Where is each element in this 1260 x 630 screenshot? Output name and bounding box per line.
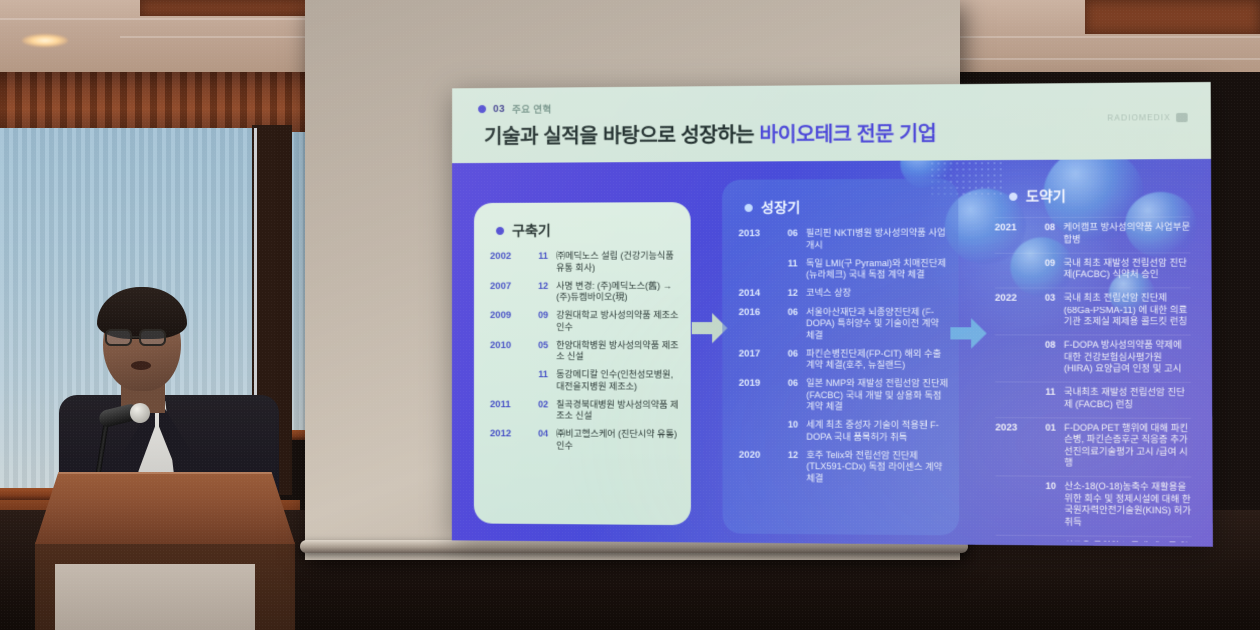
entry-text: 국내 최초 전립선암 진단제 (68Ga-PSMA-11) 에 대한 의료기관 … bbox=[1064, 292, 1191, 327]
slide-title: 기술과 실적을 바탕으로 성장하는 바이오테크 전문 기업 bbox=[484, 117, 936, 149]
bullet-dot-icon bbox=[496, 227, 504, 235]
entry-year: 2021 bbox=[995, 222, 1037, 246]
timeline-entry: 2002 11 ㈜메딕노스 설립 (건강기능식품 유통 회사) bbox=[490, 250, 681, 273]
entry-text: 한양대학병원 방사성의약품 제조소 신설 bbox=[556, 340, 680, 363]
entry-text: 사명 변경: (주)메딕노스(舊) → (주)듀켐바이오(現) bbox=[556, 280, 680, 303]
podium-paper bbox=[55, 564, 255, 630]
entry-month: 11 bbox=[1037, 387, 1064, 411]
entry-text: 칠곡경북대병원 방사성의약품 제조소 신설 bbox=[556, 399, 680, 423]
entry-year: 2020 bbox=[739, 449, 780, 484]
entry-year: 2019 bbox=[739, 378, 780, 413]
entry-month: 06 bbox=[780, 378, 807, 413]
phase-3-entries: 2021 08 케어캠프 방사성의약품 사업부문 합병 09 국내 최초 재발성… bbox=[995, 216, 1192, 542]
entry-text: 동강메디칼 인수(인천성모병원, 대전을지병원 제조소) bbox=[556, 369, 680, 393]
slide-title-accent: 바이오테크 전문 기업 bbox=[759, 123, 936, 146]
entry-month: 09 bbox=[1036, 257, 1063, 281]
entry-year: 2017 bbox=[739, 348, 780, 371]
timeline-entry: 10 세계 최초 중성자 기술이 적용된 F-DOPA 국내 품목허가 취득 bbox=[739, 420, 949, 444]
entry-month: 08 bbox=[1037, 340, 1064, 375]
entry-text: 강원대학교 방사성의약품 제조소 인수 bbox=[556, 310, 680, 333]
entry-text: 파킨슨병진단제(FP-CIT) 해외 수출 계약 체결(호주, 뉴질랜드) bbox=[806, 348, 948, 372]
arrow-phase2-to-phase3-icon bbox=[950, 318, 985, 349]
timeline-entry: 2024 06 치료용 동위원소 국내 제조를 위해 Kinectrics(캐나… bbox=[996, 535, 1192, 543]
entry-text: 일본 NMP와 재발성 전립선암 진단제 (FACBC) 국내 개발 및 상용화… bbox=[806, 378, 948, 414]
timeline-entry: 2011 02 칠곡경북대병원 방사성의약품 제조소 신설 bbox=[490, 399, 681, 423]
phase-3-heading: 도약기 bbox=[1026, 186, 1066, 207]
slide-body: 구축기 2002 11 ㈜메딕노스 설립 (건강기능식품 유통 회사) 2007… bbox=[452, 159, 1213, 547]
entry-year: 2024 bbox=[996, 540, 1038, 543]
entry-text: 서울아산재단과 뇌종양진단제 (F-DOPA) 특허양수 및 기술이전 계약 체… bbox=[806, 307, 948, 342]
timeline-entry: 10 산소-18(O-18)농축수 재활용을 위한 회수 및 정제시설에 대해 … bbox=[995, 476, 1191, 530]
timeline-entry: 08 F-DOPA 방사성의약품 약제에 대한 건강보험심사평가원(HIRA) … bbox=[995, 335, 1191, 376]
entry-year: 2009 bbox=[490, 310, 530, 333]
entry-year bbox=[995, 340, 1037, 375]
entry-month: 06 bbox=[779, 228, 806, 251]
timeline-entry: 2007 12 사명 변경: (주)메딕노스(舊) → (주)듀켐바이오(現) bbox=[490, 280, 681, 303]
entry-month: 11 bbox=[530, 251, 556, 274]
bullet-dot-icon bbox=[745, 204, 753, 212]
entry-year bbox=[490, 369, 530, 392]
entry-text: ㈜비고헬스케어 (진단시약 유통) 인수 bbox=[556, 429, 680, 453]
entry-month: 06 bbox=[1037, 540, 1064, 543]
timeline-entry: 2012 04 ㈜비고헬스케어 (진단시약 유통) 인수 bbox=[490, 428, 681, 452]
entry-text: ㈜메딕노스 설립 (건강기능식품 유통 회사) bbox=[556, 250, 680, 273]
ceiling-panel-right bbox=[1085, 0, 1260, 34]
podium bbox=[35, 472, 295, 630]
slide-header: 03 주요 연혁 기술과 실적을 바탕으로 성장하는 바이오테크 전문 기업 R… bbox=[452, 82, 1211, 163]
phase-2-entries: 2013 06 필리핀 NKTI병원 방사성의약품 사업 개시 11 독일 LM… bbox=[738, 227, 948, 492]
entry-year: 2014 bbox=[739, 288, 780, 300]
entry-month: 09 bbox=[530, 310, 556, 333]
timeline-column-phase-2: 성장기 2013 06 필리핀 NKTI병원 방사성의약품 사업 개시 11 독… bbox=[722, 179, 959, 536]
company-logo: RADIOMEDIX bbox=[1107, 113, 1188, 123]
entry-text: 케어캠프 방사성의약품 사업부문 합병 bbox=[1063, 222, 1190, 246]
entry-year: 2011 bbox=[490, 399, 530, 422]
timeline-entry: 11 동강메디칼 인수(인천성모병원, 대전을지병원 제조소) bbox=[490, 369, 681, 393]
entry-month: 10 bbox=[780, 420, 807, 443]
entry-text: F-DOPA 방사성의약품 약제에 대한 건강보험심사평가원(HIRA) 요양급… bbox=[1064, 340, 1191, 376]
entry-month: 06 bbox=[779, 307, 806, 342]
entry-month: 01 bbox=[1037, 422, 1064, 469]
entry-year bbox=[739, 420, 780, 444]
entry-text: 치료용 동위원소 국내 제조를 위해 Kinectrics(캐나다)사와 MOU… bbox=[1065, 540, 1192, 542]
slide-section-number: 03 bbox=[493, 103, 505, 114]
entry-month: 12 bbox=[530, 280, 556, 303]
entry-text: 국내최초 재발성 전립선암 진단제 (FACBC) 런칭 bbox=[1064, 387, 1191, 411]
glasses-bridge bbox=[132, 336, 140, 338]
phase-1-entries: 2002 11 ㈜메딕노스 설립 (건강기능식품 유통 회사) 2007 12 … bbox=[490, 250, 681, 459]
timeline-entry: 2022 03 국내 최초 전립선암 진단제 (68Ga-PSMA-11) 에 … bbox=[995, 287, 1191, 328]
entry-year: 2007 bbox=[490, 280, 530, 303]
glasses-lens-left bbox=[105, 329, 132, 346]
phase-1-heading: 구축기 bbox=[512, 221, 551, 241]
arrow-shaft bbox=[692, 322, 714, 334]
entry-year: 2010 bbox=[490, 340, 530, 363]
bullet-dot-icon bbox=[1009, 193, 1017, 201]
timeline-entry: 2020 12 호주 Telix와 전립선암 진단제 (TLX591-CDx) … bbox=[739, 449, 949, 485]
presentation-slide: 03 주요 연혁 기술과 실적을 바탕으로 성장하는 바이오테크 전문 기업 R… bbox=[452, 82, 1213, 547]
entry-month: 05 bbox=[530, 340, 556, 363]
arrow-head bbox=[971, 318, 987, 349]
timeline-entry: 11 독일 LMI(구 Pyramal)와 치매진단제(뉴라체크) 국내 독점 … bbox=[739, 258, 949, 282]
timeline-entry: 2017 06 파킨슨병진단제(FP-CIT) 해외 수출 계약 체결(호주, … bbox=[739, 348, 949, 372]
entry-year: 2016 bbox=[739, 307, 780, 342]
slide-eyebrow: 03 주요 연혁 bbox=[478, 102, 552, 117]
entry-text: F-DOPA PET 행위에 대해 파킨슨병, 파킨슨증후군 적응증 추가 선진… bbox=[1064, 422, 1191, 470]
phase-2-heading: 성장기 bbox=[761, 198, 801, 218]
timeline-column-phase-1: 구축기 2002 11 ㈜메딕노스 설립 (건강기능식품 유통 회사) 2007… bbox=[474, 202, 691, 525]
entry-month: 02 bbox=[530, 399, 556, 422]
phase-3-heading-row: 도약기 bbox=[1009, 186, 1066, 207]
entry-month: 12 bbox=[779, 288, 806, 300]
entry-text: 코넥스 상장 bbox=[806, 288, 948, 300]
entry-year bbox=[995, 481, 1037, 528]
entry-month: 06 bbox=[780, 348, 807, 371]
timeline-entry: 2014 12 코넥스 상장 bbox=[739, 288, 949, 300]
entry-month: 11 bbox=[779, 258, 806, 281]
timeline-entry: 2009 09 강원대학교 방사성의약품 제조소 인수 bbox=[490, 310, 681, 333]
entry-text: 세계 최초 중성자 기술이 적용된 F-DOPA 국내 품목허가 취득 bbox=[806, 420, 948, 444]
timeline-entry: 2016 06 서울아산재단과 뇌종양진단제 (F-DOPA) 특허양수 및 기… bbox=[739, 307, 949, 342]
entry-month: 04 bbox=[530, 429, 556, 452]
entry-month: 08 bbox=[1036, 222, 1063, 246]
presenter-mouth bbox=[131, 361, 151, 370]
entry-year bbox=[739, 258, 780, 281]
glasses-lens-right bbox=[139, 329, 166, 346]
slide-title-plain: 기술과 실적을 바탕으로 성장하는 bbox=[484, 124, 759, 148]
phase-1-heading-row: 구축기 bbox=[496, 221, 551, 241]
company-logo-text: RADIOMEDIX bbox=[1107, 113, 1171, 123]
arrow-phase1-to-phase2-icon bbox=[692, 313, 727, 343]
entry-year bbox=[995, 387, 1037, 411]
timeline-entry: 2023 01 F-DOPA PET 행위에 대해 파킨슨병, 파킨슨증후군 적… bbox=[995, 417, 1191, 470]
entry-month: 11 bbox=[530, 369, 556, 392]
timeline-entry: 2021 08 케어캠프 방사성의약품 사업부문 합병 bbox=[995, 216, 1191, 245]
entry-text: 호주 Telix와 전립선암 진단제 (TLX591-CDx) 독점 라이센스 … bbox=[806, 450, 948, 486]
timeline-entry: 09 국내 최초 재발성 전립선암 진단제(FACBC) 식약처 승인 bbox=[995, 252, 1191, 281]
entry-text: 산소-18(O-18)농축수 재활용을 위한 회수 및 정제시설에 대해 한국원… bbox=[1064, 481, 1191, 529]
downlight-1 bbox=[22, 34, 68, 47]
entry-month: 10 bbox=[1037, 481, 1064, 528]
entry-year: 2023 bbox=[995, 422, 1037, 469]
podium-desktop bbox=[35, 472, 295, 544]
bullet-dot-icon bbox=[478, 105, 486, 113]
entry-month: 03 bbox=[1036, 293, 1063, 328]
timeline-entry: 2013 06 필리핀 NKTI병원 방사성의약품 사업 개시 bbox=[738, 227, 948, 251]
entry-month: 12 bbox=[780, 450, 807, 485]
entry-text: 필리핀 NKTI병원 방사성의약품 사업 개시 bbox=[806, 227, 948, 251]
arrow-shaft bbox=[950, 327, 973, 339]
entry-year: 2002 bbox=[490, 251, 530, 274]
entry-text: 독일 LMI(구 Pyramal)와 치매진단제(뉴라체크) 국내 독점 계약 … bbox=[806, 258, 948, 282]
logo-mark-icon bbox=[1176, 113, 1188, 122]
entry-year: 2013 bbox=[738, 228, 779, 251]
entry-text: 국내 최초 재발성 전립선암 진단제(FACBC) 식약처 승인 bbox=[1063, 257, 1190, 281]
microphone-icon bbox=[130, 403, 150, 423]
timeline-entry: 2019 06 일본 NMP와 재발성 전립선암 진단제 (FACBC) 국내 … bbox=[739, 378, 949, 414]
entry-year: 2022 bbox=[995, 293, 1037, 328]
timeline-entry: 11 국내최초 재발성 전립선암 진단제 (FACBC) 런칭 bbox=[995, 382, 1191, 411]
entry-year bbox=[995, 257, 1037, 281]
phase-2-heading-row: 성장기 bbox=[745, 198, 801, 218]
entry-year: 2012 bbox=[490, 428, 530, 451]
timeline-column-phase-3: 도약기 2021 08 케어캠프 방사성의약품 사업부문 합병 09 국내 최초… bbox=[986, 167, 1202, 542]
timeline-entry: 2010 05 한양대학병원 방사성의약품 제조소 신설 bbox=[490, 340, 681, 363]
slide-section-label: 주요 연혁 bbox=[512, 102, 552, 116]
